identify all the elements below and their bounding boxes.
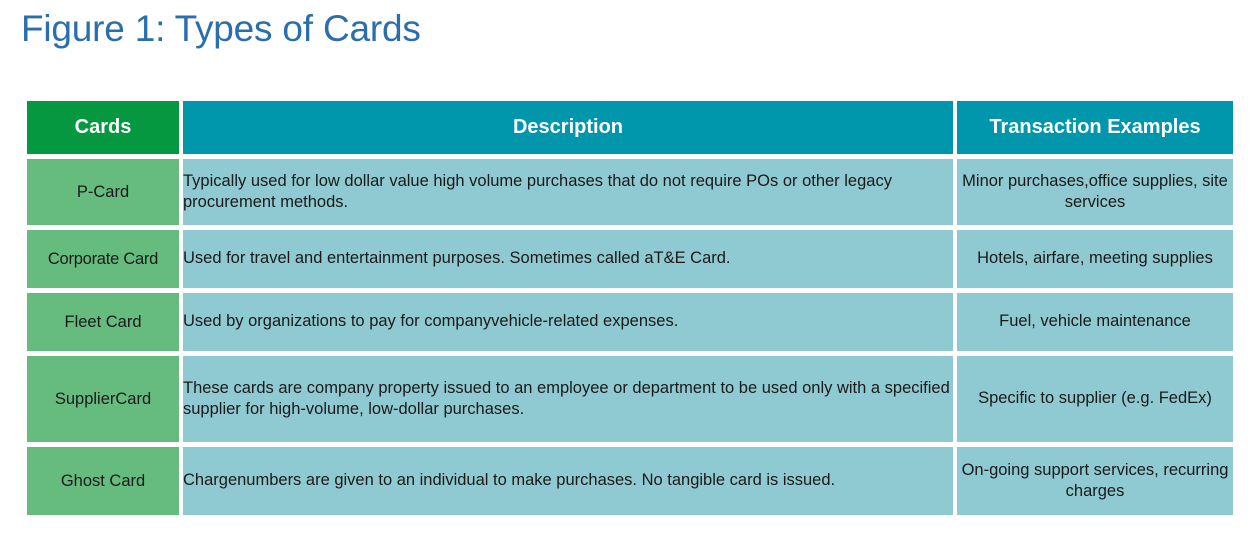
cell-transaction-examples: Minor purchases,office supplies, site se… [957,159,1233,225]
figure-container: Figure 1: Types of Cards Cards Descripti… [0,0,1260,540]
table-row: Fleet Card Used by organizations to pay … [27,293,1233,351]
column-header-cards: Cards [27,101,179,154]
cell-transaction-examples: Hotels, airfare, meeting supplies [957,230,1233,288]
cell-transaction-examples: On-going support services, recurring cha… [957,447,1233,515]
cell-card-description: Chargenumbers are given to an individual… [183,447,953,515]
types-of-cards-table: Cards Description Transaction Examples P… [23,96,1237,520]
cell-card-name: Corporate Card [27,230,179,288]
cell-card-name: Ghost Card [27,447,179,515]
table-row: Corporate Card Used for travel and enter… [27,230,1233,288]
table-body: P-Card Typically used for low dollar val… [27,159,1233,515]
cell-card-description: Used for travel and entertainment purpos… [183,230,953,288]
table-header: Cards Description Transaction Examples [27,101,1233,154]
cell-card-description: Used by organizations to pay for company… [183,293,953,351]
cell-card-name: SupplierCard [27,356,179,442]
cell-card-name: Fleet Card [27,293,179,351]
table-row: P-Card Typically used for low dollar val… [27,159,1233,225]
cell-card-description: Typically used for low dollar value high… [183,159,953,225]
column-header-transaction-examples: Transaction Examples [957,101,1233,154]
cell-card-description: These cards are company property issued … [183,356,953,442]
table-row: SupplierCard These cards are company pro… [27,356,1233,442]
table-header-row: Cards Description Transaction Examples [27,101,1233,154]
cell-transaction-examples: Fuel, vehicle maintenance [957,293,1233,351]
figure-title: Figure 1: Types of Cards [21,8,421,50]
column-header-description: Description [183,101,953,154]
table-row: Ghost Card Chargenumbers are given to an… [27,447,1233,515]
cell-card-name: P-Card [27,159,179,225]
cell-transaction-examples: Specific to supplier (e.g. FedEx) [957,356,1233,442]
